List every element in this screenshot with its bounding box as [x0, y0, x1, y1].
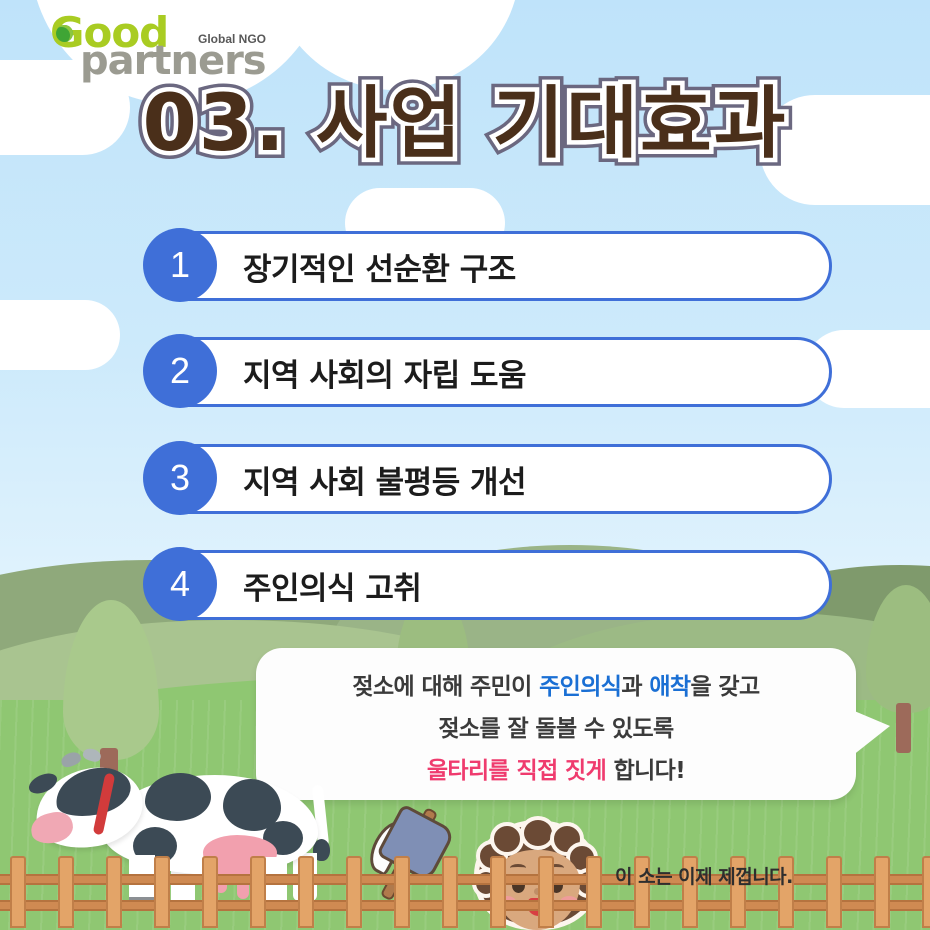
list-item-number: 1 — [143, 228, 217, 302]
list-item-label: 주인의식 고취 — [243, 563, 421, 608]
fence-post — [538, 856, 554, 928]
cloud-shape — [270, 0, 520, 90]
brand-logo: Good partners Global NGO — [22, 8, 282, 76]
speech-text-a: 젖소에 대해 주민이 — [352, 674, 539, 700]
speech-bubble-line-2: 젖소를 잘 돌볼 수 있도록 — [256, 718, 856, 741]
fence-post — [298, 856, 314, 928]
list-item-label: 장기적인 선순환 구조 — [243, 244, 516, 289]
list-item-number: 2 — [143, 334, 217, 408]
fence-post — [490, 856, 506, 928]
speech-highlight-ownership: 주인의식 — [539, 674, 621, 700]
poster-canvas: Good partners Global NGO 03. 사업 기대효과 03.… — [0, 0, 930, 930]
list-item-label: 지역 사회의 자립 도움 — [243, 350, 526, 395]
fence-post — [346, 856, 362, 928]
fence-post — [586, 856, 602, 928]
fence-post — [922, 856, 930, 928]
list-item-number: 4 — [143, 547, 217, 621]
fence-post — [154, 856, 170, 928]
fence-post — [10, 856, 26, 928]
fence-post — [106, 856, 122, 928]
page-title-text: 03. 사업 기대효과 — [0, 78, 930, 170]
speech-highlight-fence: 울타리를 직접 짓게 — [427, 758, 606, 784]
list-item[interactable]: 1 장기적인 선순환 구조 — [148, 231, 832, 301]
bottom-caption: 이 소는 이제 제껍니다. — [615, 862, 875, 889]
list-item[interactable]: 3 지역 사회 불평등 개선 — [148, 444, 832, 514]
speech-text-b: 과 — [621, 674, 649, 700]
fence-post — [394, 856, 410, 928]
list-item[interactable]: 2 지역 사회의 자립 도움 — [148, 337, 832, 407]
fence-post — [442, 856, 458, 928]
list-item-number: 3 — [143, 441, 217, 515]
fence-post — [202, 856, 218, 928]
logo-tagline: Global NGO — [198, 32, 266, 46]
list-item-label: 지역 사회 불평등 개선 — [243, 457, 526, 502]
cloud-shape — [0, 300, 120, 370]
speech-highlight-attachment: 애착 — [649, 674, 690, 700]
globe-icon — [56, 25, 73, 42]
speech-text-d: 합니다! — [606, 758, 685, 784]
fence-post — [58, 856, 74, 928]
speech-text-c: 을 갖고 — [690, 674, 759, 700]
speech-bubble-line-1: 젖소에 대해 주민이 주인의식과 애착을 갖고 — [256, 676, 856, 699]
fence-post — [250, 856, 266, 928]
list-item[interactable]: 4 주인의식 고취 — [148, 550, 832, 620]
fence-post — [874, 856, 890, 928]
